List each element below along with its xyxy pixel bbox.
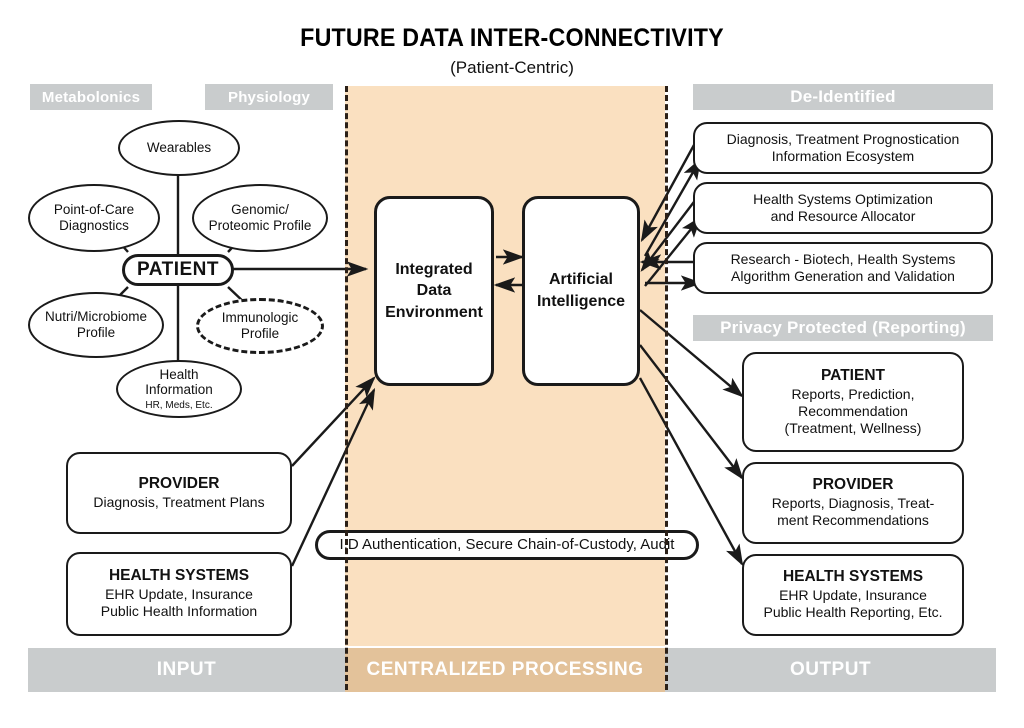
node-input-provider-line1: Diagnosis, Treatment Plans <box>93 494 264 511</box>
node-privacy-provider-line1: Reports, Diagnosis, Treat- <box>772 495 935 512</box>
node-ide-line3: Environment <box>385 302 483 324</box>
node-input-health-systems-heading: HEALTH SYSTEMS <box>109 567 249 586</box>
node-ai-line1: Artificial <box>549 269 613 291</box>
node-deid-research-biotech[interactable]: Research - Biotech, Health Systems Algor… <box>693 242 993 294</box>
node-deid3-line1: Research - Biotech, Health Systems <box>731 251 956 268</box>
node-input-provider-heading: PROVIDER <box>139 475 220 494</box>
node-deid-diagnosis-prognostication[interactable]: Diagnosis, Treatment Prognostication Inf… <box>693 122 993 174</box>
node-privacy-patient-line2: Recommendation <box>798 403 908 420</box>
node-artificial-intelligence[interactable]: Artificial Intelligence <box>522 196 640 386</box>
node-id-authentication-bar[interactable]: I.D Authentication, Secure Chain-of-Cust… <box>315 530 699 560</box>
node-nutri-label: Nutri/Microbiome Profile <box>45 309 147 340</box>
node-health-information-sub: HR, Meds, Etc. <box>145 400 213 412</box>
node-privacy-patient-line1: Reports, Prediction, <box>792 386 915 403</box>
node-privacy-health-line1: EHR Update, Insurance <box>779 587 927 604</box>
node-privacy-patient-heading: PATIENT <box>821 367 885 386</box>
node-point-of-care-label: Point-of-Care Diagnostics <box>54 202 134 233</box>
node-health-information[interactable]: Health Information HR, Meds, Etc. <box>116 360 242 418</box>
node-privacy-patient[interactable]: PATIENT Reports, Prediction, Recommendat… <box>742 352 964 452</box>
node-point-of-care[interactable]: Point-of-Care Diagnostics <box>28 184 160 252</box>
node-privacy-provider[interactable]: PROVIDER Reports, Diagnosis, Treat- ment… <box>742 462 964 544</box>
node-input-health-systems-line2: Public Health Information <box>101 603 257 620</box>
node-privacy-provider-heading: PROVIDER <box>813 476 894 495</box>
node-integrated-data-environment[interactable]: Integrated Data Environment <box>374 196 494 386</box>
node-ide-line2: Data <box>417 280 452 302</box>
node-deid3-line2: Algorithm Generation and Validation <box>731 268 955 285</box>
header-physiology-label: Physiology <box>228 89 310 106</box>
node-deid-health-systems-optimization[interactable]: Health Systems Optimization and Resource… <box>693 182 993 234</box>
node-immunologic-profile[interactable]: Immunologic Profile <box>196 298 324 354</box>
node-input-health-systems[interactable]: HEALTH SYSTEMS EHR Update, Insurance Pub… <box>66 552 292 636</box>
node-genomic-label: Genomic/ Proteomic Profile <box>209 202 312 233</box>
node-privacy-health-heading: HEALTH SYSTEMS <box>783 568 923 587</box>
header-metabolonics: Metabolonics <box>30 84 152 110</box>
node-privacy-health-line2: Public Health Reporting, Etc. <box>764 604 943 621</box>
header-deidentified: De-Identified <box>693 84 993 110</box>
header-privacy-protected: Privacy Protected (Reporting) <box>693 315 993 341</box>
node-immunologic-label: Immunologic Profile <box>222 310 299 341</box>
node-privacy-provider-line2: ment Recommendations <box>777 512 929 529</box>
boundary-line-right <box>665 86 668 690</box>
node-patient-label: PATIENT <box>137 258 219 281</box>
node-input-provider[interactable]: PROVIDER Diagnosis, Treatment Plans <box>66 452 292 534</box>
node-deid1-line2: Information Ecosystem <box>772 148 914 165</box>
node-deid2-line2: and Resource Allocator <box>771 208 916 225</box>
node-privacy-health-systems[interactable]: HEALTH SYSTEMS EHR Update, Insurance Pub… <box>742 554 964 636</box>
nodes-layer: Metabolonics Physiology De-Identified Pr… <box>0 0 1024 728</box>
header-deidentified-label: De-Identified <box>790 87 896 107</box>
diagram-canvas: INPUT CENTRALIZED PROCESSING OUTPUT FUTU… <box>0 0 1024 728</box>
node-input-health-systems-line1: EHR Update, Insurance <box>105 586 253 603</box>
node-wearables-label: Wearables <box>147 140 211 156</box>
node-ai-line2: Intelligence <box>537 291 625 313</box>
header-privacy-label: Privacy Protected (Reporting) <box>720 318 966 338</box>
header-metabolonics-label: Metabolonics <box>42 89 140 106</box>
boundary-line-left <box>345 86 348 690</box>
node-patient[interactable]: PATIENT <box>122 254 234 286</box>
node-privacy-patient-line3: (Treatment, Wellness) <box>785 420 922 437</box>
node-id-authentication-label: I.D Authentication, Secure Chain-of-Cust… <box>340 536 675 554</box>
node-deid2-line1: Health Systems Optimization <box>753 191 933 208</box>
node-nutri-microbiome[interactable]: Nutri/Microbiome Profile <box>28 292 164 358</box>
header-physiology: Physiology <box>205 84 333 110</box>
node-ide-line1: Integrated <box>395 259 472 281</box>
node-health-information-label: Health Information HR, Meds, Etc. <box>145 367 213 412</box>
node-genomic-proteomic[interactable]: Genomic/ Proteomic Profile <box>192 184 328 252</box>
node-wearables[interactable]: Wearables <box>118 120 240 176</box>
node-deid1-line1: Diagnosis, Treatment Prognostication <box>727 131 960 148</box>
